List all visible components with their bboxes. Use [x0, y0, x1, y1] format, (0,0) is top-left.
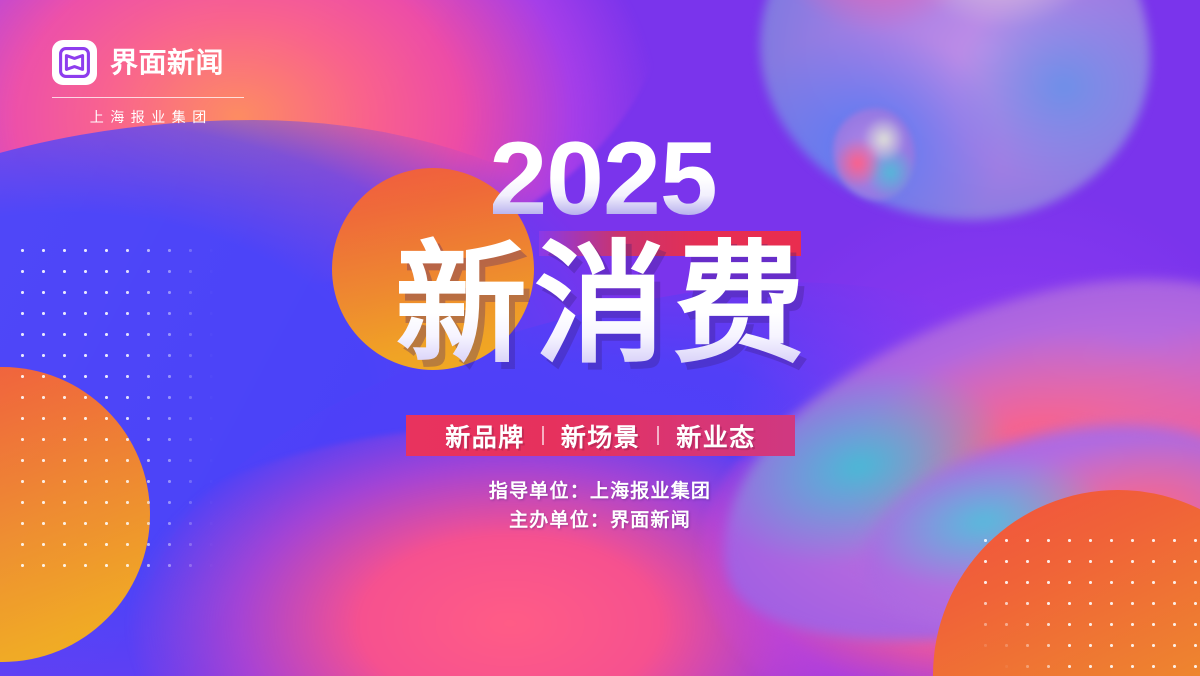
- subtitle-item-1: 新品牌: [428, 418, 542, 454]
- subtitle-item-3: 新业态: [659, 418, 773, 454]
- hero-block: 2025: [0, 132, 1200, 228]
- logo-wordmark: 界面新闻: [110, 49, 224, 77]
- credit-guidance-unit: 指导单位：上海报业集团: [0, 478, 1200, 507]
- dot-grid-bottom-right: [975, 530, 1200, 676]
- logo-row: 界面新闻: [52, 40, 244, 85]
- hero-title: 新消费: [0, 236, 1200, 375]
- jiemian-screen-logo-icon: [52, 40, 97, 85]
- brand-logo-lockup: 界面新闻 上海报业集团: [52, 40, 244, 127]
- subtitle-item-2: 新场景: [544, 418, 658, 454]
- subtitle-bar: 新品牌 新场景 新业态: [406, 415, 795, 456]
- logo-divider: [52, 97, 244, 98]
- hero-year: 2025: [0, 132, 1200, 228]
- logo-parent-org: 上海报业集团: [52, 107, 244, 127]
- poster-canvas: 界面新闻 上海报业集团 2025 新消费 新品牌 新场景 新业态 指导单位：上海…: [0, 0, 1200, 676]
- credit-host-unit: 主办单位：界面新闻: [0, 507, 1200, 536]
- credits-block: 指导单位：上海报业集团 主办单位：界面新闻: [0, 478, 1200, 536]
